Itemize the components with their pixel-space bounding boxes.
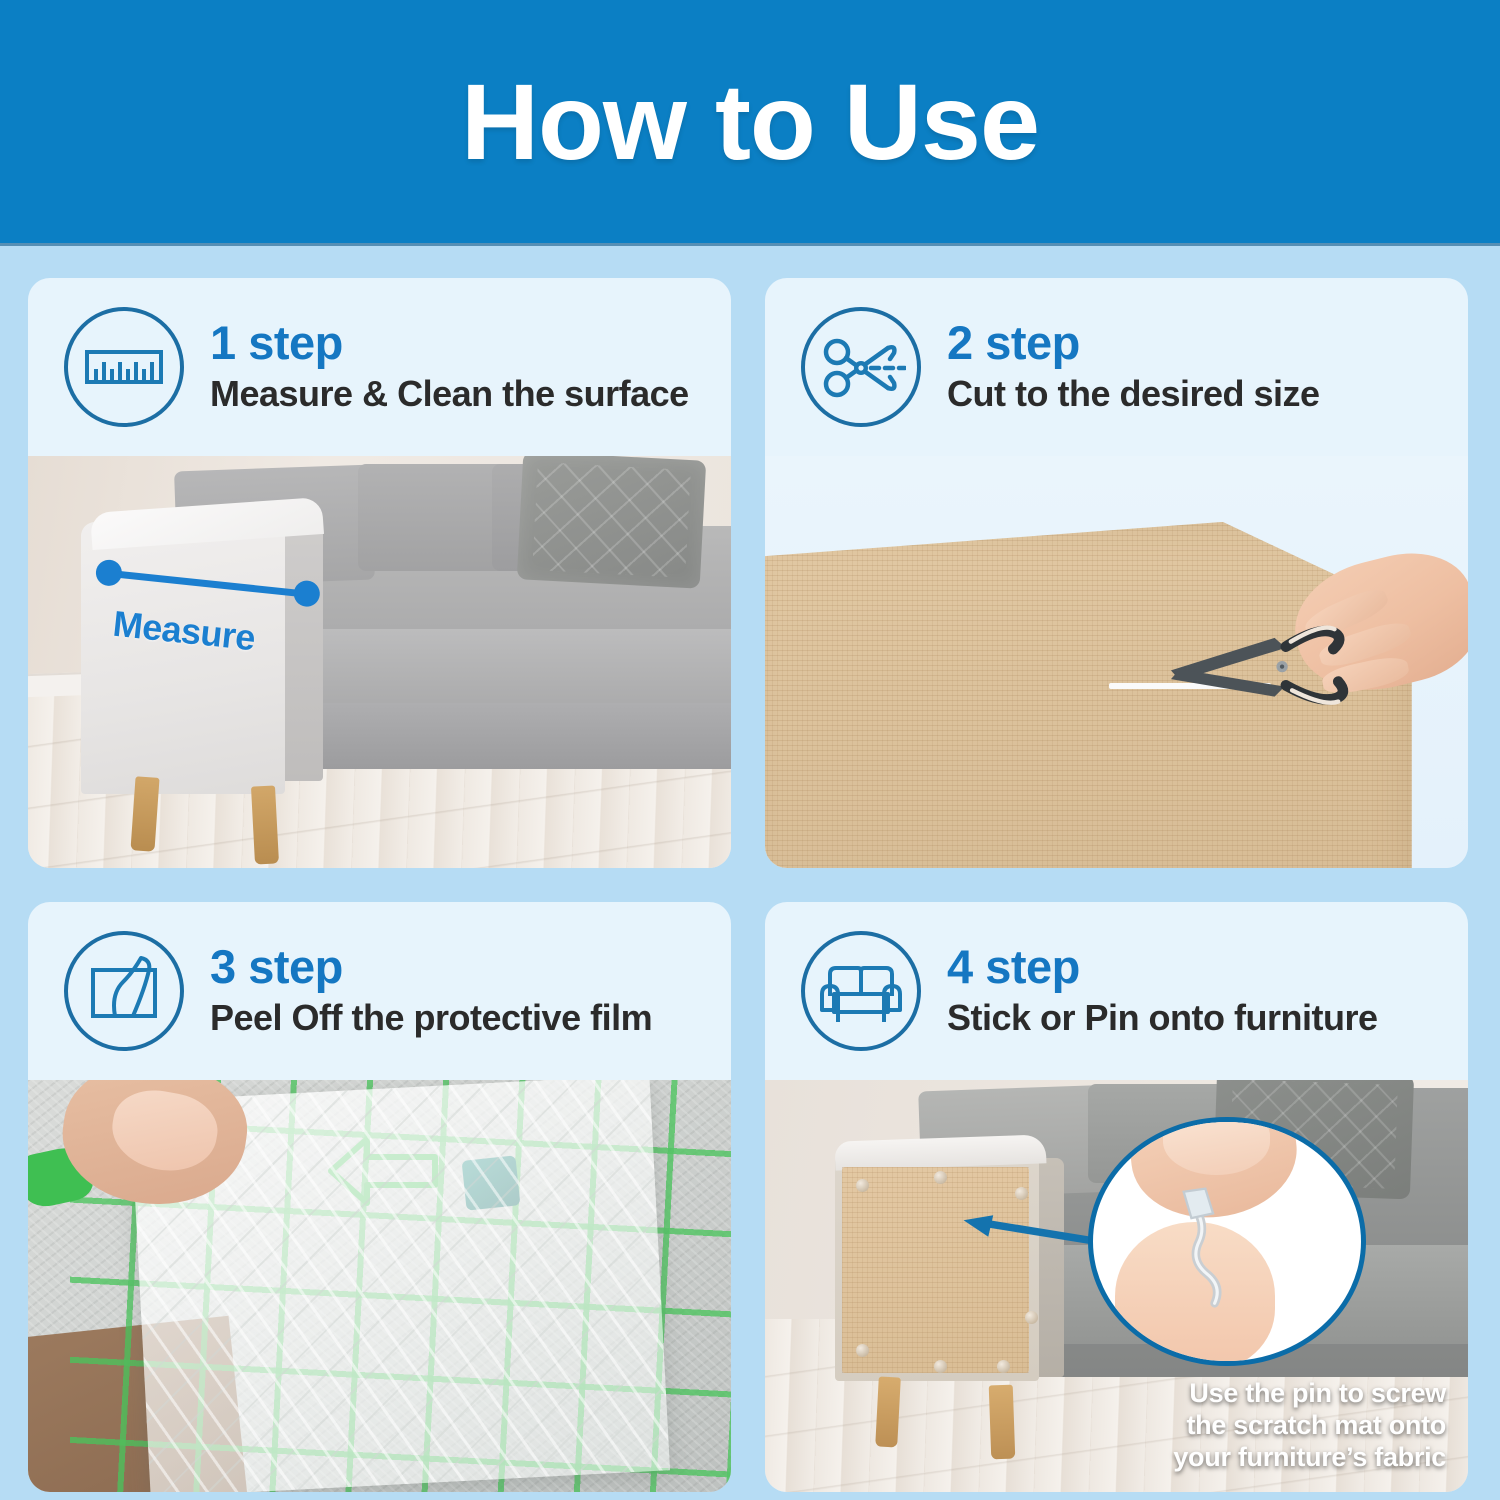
caption-line-1: Use the pin to screw bbox=[1173, 1378, 1446, 1410]
sofa-back-cushion-2 bbox=[358, 464, 513, 571]
step-3-label: 3 step bbox=[210, 943, 652, 991]
sofa-arm-measure-photo: Measure bbox=[28, 456, 731, 868]
caption-line-3: your furniture’s fabric bbox=[1173, 1442, 1446, 1474]
pin-closeup-inset bbox=[1088, 1117, 1365, 1366]
measure-endpoint-left bbox=[95, 559, 124, 588]
ruler-icon bbox=[64, 307, 184, 427]
step-4-header: 4 step Stick or Pin onto furniture bbox=[765, 902, 1468, 1080]
steps-grid: 1 step Measure & Clean the surface bbox=[28, 278, 1468, 1483]
step-2-text: 2 step Cut to the desired size bbox=[947, 319, 1320, 414]
step-4-text: 4 step Stick or Pin onto furniture bbox=[947, 943, 1378, 1038]
step-2-header: 2 step Cut to the desired size bbox=[765, 278, 1468, 456]
step-1-text: 1 step Measure & Clean the surface bbox=[210, 319, 689, 414]
step-2-label: 2 step bbox=[947, 319, 1320, 367]
sofa-seat-base bbox=[309, 703, 731, 769]
step-card-2: 2 step Cut to the desired size bbox=[765, 278, 1468, 868]
scissors-cutting-mat-photo bbox=[765, 456, 1468, 868]
page-title: How to Use bbox=[461, 68, 1039, 176]
step-4-description: Stick or Pin onto furniture bbox=[947, 997, 1378, 1038]
step-2-description: Cut to the desired size bbox=[947, 373, 1320, 414]
step-3-description: Peel Off the protective film bbox=[210, 997, 652, 1038]
measure-line bbox=[105, 570, 312, 599]
step-1-description: Measure & Clean the surface bbox=[210, 373, 689, 414]
measure-endpoint-right bbox=[293, 580, 322, 609]
pin-caption: Use the pin to screw the scratch mat ont… bbox=[1173, 1378, 1446, 1474]
measure-label: Measure bbox=[111, 603, 257, 660]
scissors-svg bbox=[1074, 563, 1468, 769]
header-banner: How to Use bbox=[0, 0, 1500, 243]
caption-line-2: the scratch mat onto bbox=[1173, 1410, 1446, 1442]
pin-7 bbox=[1025, 1311, 1038, 1324]
twist-pin-icon bbox=[1179, 1175, 1334, 1323]
step-card-3: 3 step Peel Off the protective film bbox=[28, 902, 731, 1492]
sofa-leg-back bbox=[251, 785, 279, 864]
step-4-label: 4 step bbox=[947, 943, 1378, 991]
quilted-throw-pillow bbox=[517, 456, 706, 588]
step-card-4: 4 step Stick or Pin onto furniture bbox=[765, 902, 1468, 1492]
pin-2 bbox=[934, 1171, 947, 1184]
pin-3 bbox=[1015, 1187, 1028, 1200]
infographic-page: How to Use bbox=[0, 0, 1500, 1500]
step-card-1: 1 step Measure & Clean the surface bbox=[28, 278, 731, 868]
peel-film-icon bbox=[64, 931, 184, 1051]
measure-annotation: Measure bbox=[85, 552, 322, 698]
sofa-icon bbox=[801, 931, 921, 1051]
scissors-and-hand bbox=[1074, 563, 1468, 769]
peeling-protective-film-photo bbox=[28, 1080, 731, 1492]
scratch-mat-attached bbox=[842, 1167, 1028, 1373]
step-1-header: 1 step Measure & Clean the surface bbox=[28, 278, 731, 456]
pin-4 bbox=[856, 1344, 869, 1357]
sofa-leg-back bbox=[989, 1384, 1015, 1459]
step-3-header: 3 step Peel Off the protective film bbox=[28, 902, 731, 1080]
mat-pinned-on-sofa-photo: Use the pin to screw the scratch mat ont… bbox=[765, 1080, 1468, 1492]
scissors-icon bbox=[801, 307, 921, 427]
step-1-label: 1 step bbox=[210, 319, 689, 367]
pin-5 bbox=[934, 1360, 947, 1373]
step-3-text: 3 step Peel Off the protective film bbox=[210, 943, 652, 1038]
